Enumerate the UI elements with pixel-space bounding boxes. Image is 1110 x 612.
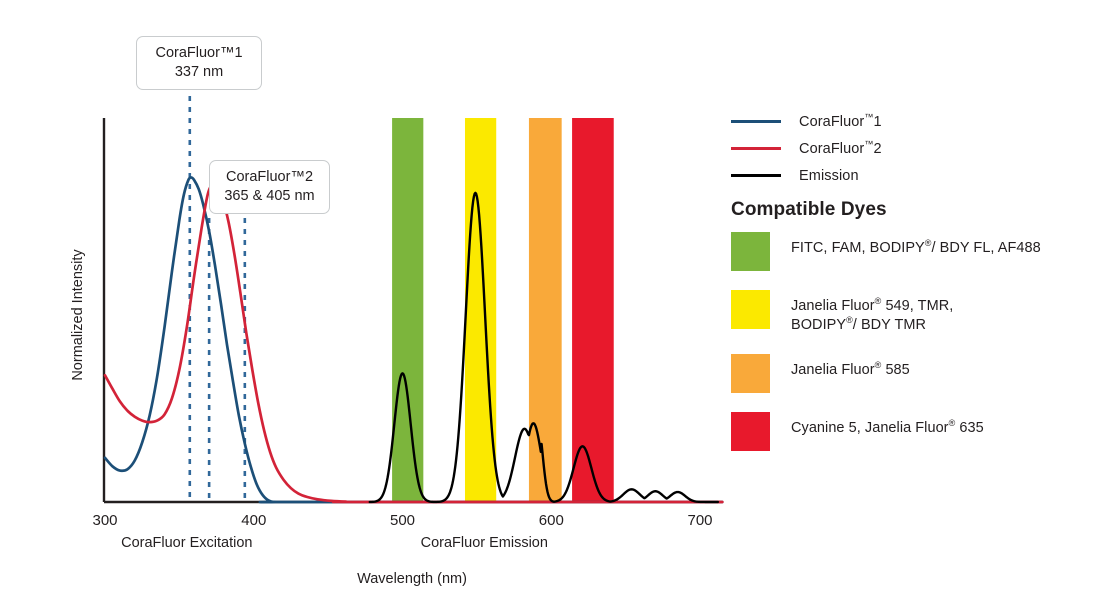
dye-yellow-label: Janelia Fluor® 549, TMR,BODIPY®/ BDY TMR <box>791 290 953 335</box>
dye-green-label: FITC, FAM, BODIPY®/ BDY FL, AF488 <box>791 232 1041 258</box>
excitation-range-label: CoraFluor Excitation <box>121 535 252 551</box>
chart-area: 300400500600700CoraFluor ExcitationCoraF… <box>0 0 730 612</box>
x-tick-label-300: 300 <box>92 512 117 529</box>
orange-band <box>529 118 562 502</box>
dye-red-label: Cyanine 5, Janelia Fluor® 635 <box>791 412 984 438</box>
corafluor2-callout-line1: CoraFluor™2 <box>222 168 317 187</box>
x-axis-title: Wavelength (nm) <box>357 571 467 587</box>
legend-corafluor2-label: CoraFluor™2 <box>799 141 882 157</box>
dye-yellow-swatch <box>731 290 770 329</box>
emission-filter-bands <box>392 118 614 502</box>
compatible-dyes-heading: Compatible Dyes <box>731 199 887 221</box>
legend-emission: Emission <box>730 162 1100 189</box>
spectra-plot: 300400500600700CoraFluor ExcitationCoraF… <box>0 0 730 612</box>
corafluor2-callout: CoraFluor™2 365 & 405 nm <box>209 160 330 214</box>
legend-corafluor1-label: CoraFluor™1 <box>799 114 882 130</box>
legend-corafluor2-line-swatch <box>731 147 781 150</box>
dye-orange-label: Janelia Fluor® 585 <box>791 354 910 380</box>
compatible-dyes-list: FITC, FAM, BODIPY®/ BDY FL, AF488Janelia… <box>730 232 1106 470</box>
dye-green-swatch <box>731 232 770 271</box>
dye-red-row: Cyanine 5, Janelia Fluor® 635 <box>730 412 1106 451</box>
x-tick-label-400: 400 <box>241 512 266 529</box>
legend-corafluor2: CoraFluor™2 <box>730 135 1100 162</box>
excitation-marker-lines <box>190 96 245 502</box>
corafluor1-callout: CoraFluor™1 337 nm <box>136 36 262 90</box>
spectral-chart-page: 300400500600700CoraFluor ExcitationCoraF… <box>0 0 1110 612</box>
emission-range-label: CoraFluor Emission <box>421 535 548 551</box>
red-band <box>572 118 614 502</box>
y-axis-title: Normalized Intensity <box>70 249 86 381</box>
x-tick-label-500: 500 <box>390 512 415 529</box>
corafluor1-callout-line1: CoraFluor™1 <box>149 44 249 63</box>
legend-corafluor1: CoraFluor™1 <box>730 108 1100 135</box>
corafluor2-callout-line2: 365 & 405 nm <box>222 187 317 206</box>
dye-orange-swatch <box>731 354 770 393</box>
dye-green-row: FITC, FAM, BODIPY®/ BDY FL, AF488 <box>730 232 1106 271</box>
dye-orange-row: Janelia Fluor® 585 <box>730 354 1106 393</box>
legend-emission-label: Emission <box>799 168 859 184</box>
dye-yellow-row: Janelia Fluor® 549, TMR,BODIPY®/ BDY TMR <box>730 290 1106 335</box>
curve-legend: CoraFluor™1CoraFluor™2Emission <box>730 108 1100 189</box>
dye-red-swatch <box>731 412 770 451</box>
legend-emission-line-swatch <box>731 174 781 177</box>
legend-panel: CoraFluor™1CoraFluor™2Emission Compatibl… <box>730 0 1110 612</box>
yellow-band <box>465 118 496 502</box>
axis-labels: 300400500600700CoraFluor ExcitationCoraF… <box>70 249 713 587</box>
green-band <box>392 118 423 502</box>
x-tick-label-700: 700 <box>687 512 712 529</box>
legend-corafluor1-line-swatch <box>731 120 781 123</box>
x-tick-label-600: 600 <box>539 512 564 529</box>
corafluor1-callout-line2: 337 nm <box>149 63 249 82</box>
